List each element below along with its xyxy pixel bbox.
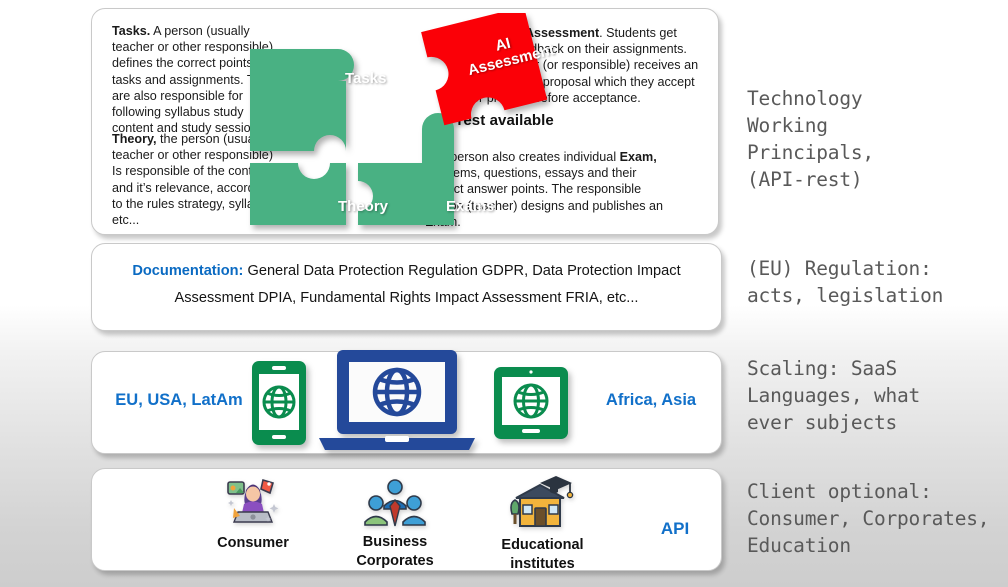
consumer-shopper-icon xyxy=(178,474,328,533)
laptop-globe-icon xyxy=(317,348,477,459)
caption-scaling: Scaling: SaaS Languages, what ever subje… xyxy=(747,355,920,436)
slide-canvas: Tasks. A person (usually teacher or othe… xyxy=(0,0,1008,587)
panel-documentation: Documentation: General Data Protection R… xyxy=(91,243,722,331)
client-label-business-text: Business Corporates xyxy=(356,534,433,569)
client-label-consumer: Consumer xyxy=(217,535,289,551)
documentation-text: Documentation: General Data Protection R… xyxy=(106,258,707,312)
client-label-education-text: Educational institutes xyxy=(501,537,583,572)
panel-clients: Consumer Business Corporates xyxy=(91,468,722,571)
client-label-api: API xyxy=(640,519,710,539)
scaling-region-left: EU, USA, LatAm xyxy=(104,391,254,410)
client-label-business: Business Corporates xyxy=(356,534,433,569)
documentation-lead: Documentation: xyxy=(132,263,243,279)
puzzle-piece-theory xyxy=(250,163,346,225)
client-item-consumer: Consumer xyxy=(178,474,328,553)
caption-technology: Technology Working Principals, (API-rest… xyxy=(747,85,874,193)
theory-label: Theory, xyxy=(112,132,157,146)
exam-label: Exam, xyxy=(620,150,657,164)
caption-clients: Client optional: Consumer, Corporates, E… xyxy=(747,478,989,559)
puzzle-diagram: Tasks Theory Exams AI Assessment xyxy=(242,13,562,229)
documentation-body: General Data Protection Regulation GDPR,… xyxy=(175,263,681,306)
scaling-region-right: Africa, Asia xyxy=(591,391,711,410)
puzzle-piece-tasks xyxy=(250,49,354,151)
business-people-icon xyxy=(320,479,470,532)
puzzle-piece-ai-assessment xyxy=(421,13,547,125)
client-label-education: Educational institutes xyxy=(501,537,583,572)
puzzle-piece-exams xyxy=(358,113,454,225)
phone-globe-icon xyxy=(251,360,307,451)
caption-regulation: (EU) Regulation: acts, legislation xyxy=(747,255,943,309)
panel-scaling: EU, USA, LatAm Africa, Asia xyxy=(91,351,722,454)
school-building-icon xyxy=(460,474,625,535)
client-item-education: Educational institutes xyxy=(460,474,625,574)
tasks-label: Tasks. xyxy=(112,24,150,38)
tablet-globe-icon xyxy=(493,366,569,445)
panel-technology: Tasks. A person (usually teacher or othe… xyxy=(91,8,719,235)
client-item-business: Business Corporates xyxy=(320,479,470,571)
